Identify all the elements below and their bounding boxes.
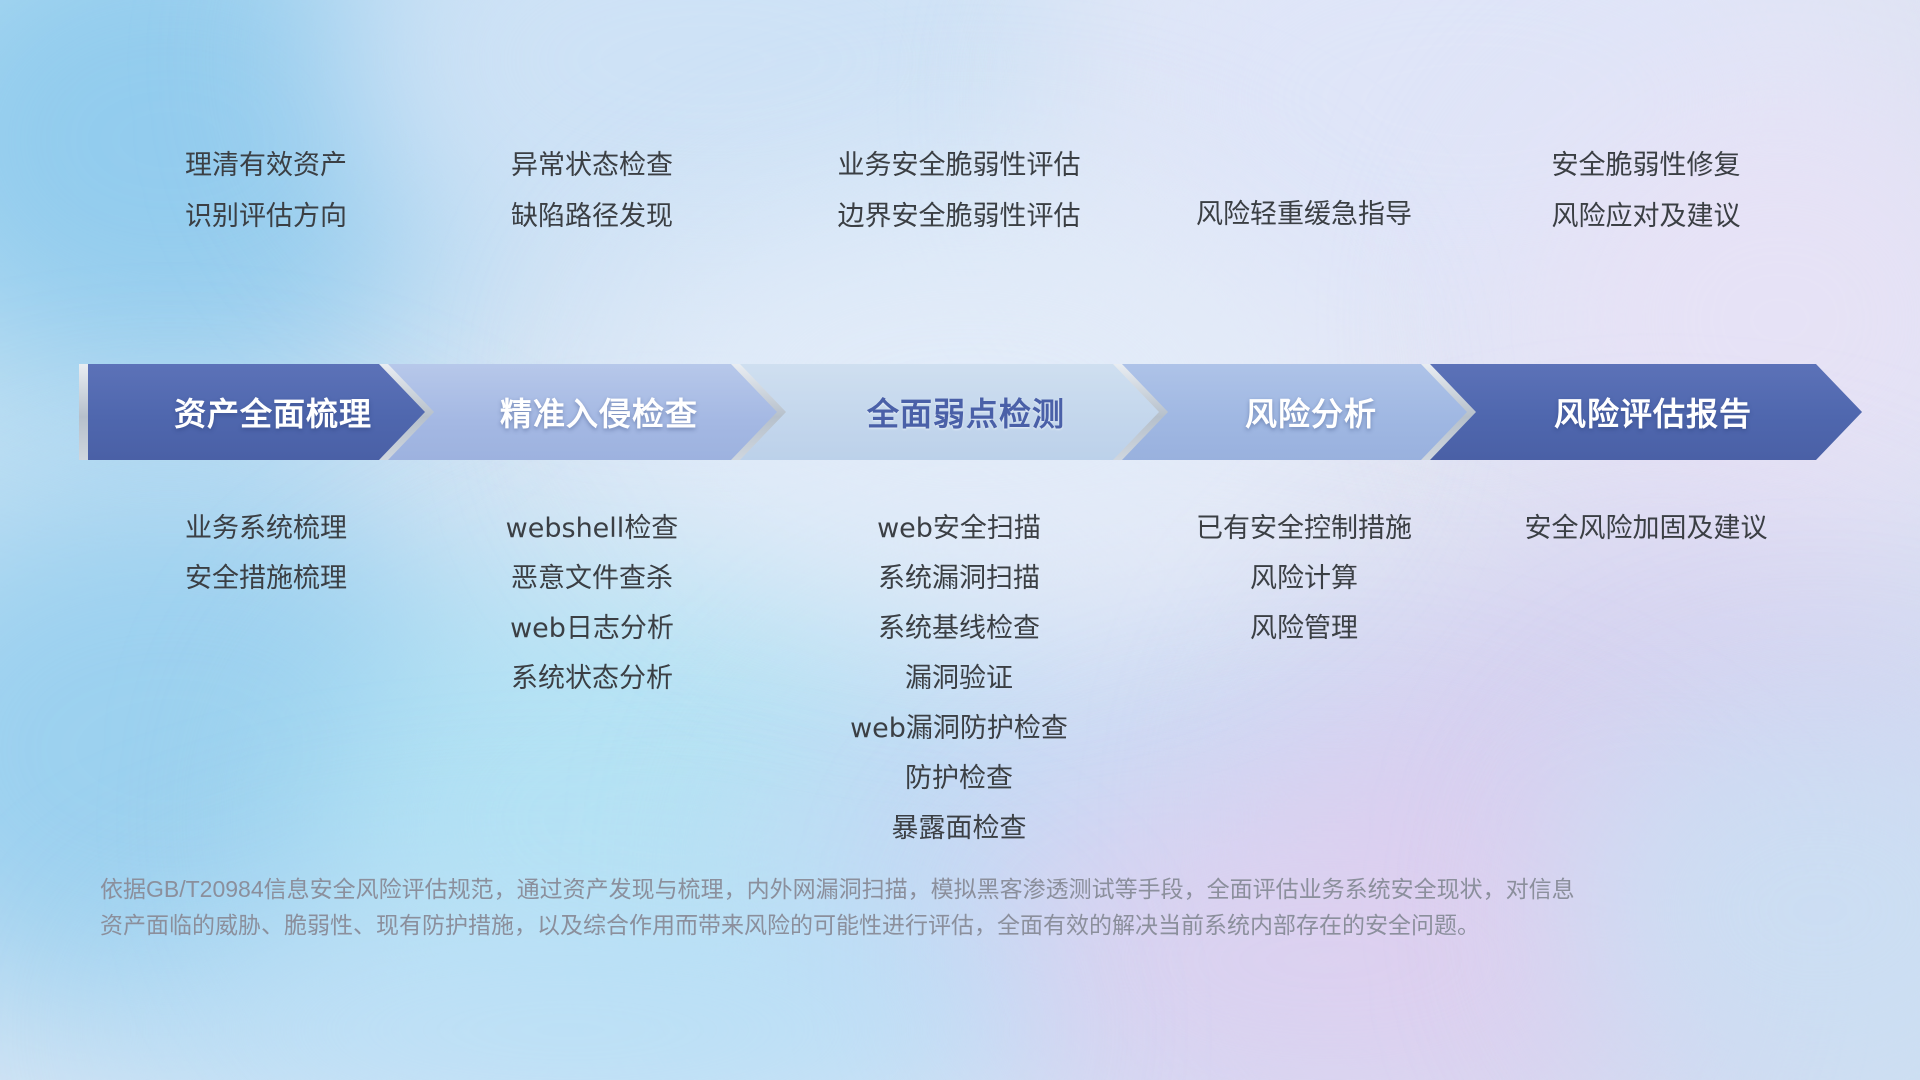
- top-caption-item: 风险应对及建议: [1346, 203, 1920, 230]
- top-caption-group-risk-report: 安全脆弱性修复风险应对及建议: [1346, 152, 1920, 254]
- footer-line-2: 资产面临的威胁、脆弱性、现有防护措施，以及综合作用而带来风险的可能性进行评估，全…: [100, 908, 1840, 944]
- bottom-list-item-cn: 暴露面检查: [892, 813, 1027, 843]
- stage-chevron-weakness-detection[interactable]: 全面弱点检测: [740, 364, 1178, 460]
- bottom-list-item-cn: 恶意文件查杀: [511, 563, 673, 593]
- bottom-list-item-cn: 安全风险加固及建议: [1525, 513, 1768, 543]
- bottom-list-item-cn: 风险管理: [1250, 613, 1358, 643]
- bottom-list-item-en: web: [510, 613, 566, 644]
- bottom-list-item-cn: 漏洞防护检查: [906, 713, 1068, 743]
- top-caption-item: 安全脆弱性修复: [1346, 152, 1920, 179]
- process-diagram: 理清有效资产识别评估方向异常状态检查缺陷路径发现业务安全脆弱性评估边界安全脆弱性…: [0, 0, 1920, 1080]
- stage-title-risk-report: 风险评估报告: [1540, 389, 1752, 435]
- bottom-list-risk-report: 安全风险加固及建议: [1346, 515, 1920, 565]
- stage-chevron-asset-inventory[interactable]: 资产全面梳理: [88, 364, 444, 460]
- bottom-list-item-cn: 防护检查: [905, 763, 1013, 793]
- bottom-list-item: 防护检查: [659, 765, 1259, 792]
- stage-title-asset-inventory: 资产全面梳理: [160, 389, 372, 435]
- bottom-list-item: 漏洞验证: [659, 665, 1259, 692]
- bottom-list-item: 暴露面检查: [659, 815, 1259, 842]
- bottom-list-item: 风险管理: [1004, 615, 1604, 642]
- footer-line-1: 依据GB/T20984信息安全风险评估规范，通过资产发现与梳理，内外网漏洞扫描，…: [100, 872, 1840, 908]
- bottom-list-item: 风险计算: [1004, 565, 1604, 592]
- stage-chevron-intrusion-check[interactable]: 精准入侵检查: [388, 364, 796, 460]
- stage-title-intrusion-check: 精准入侵检查: [486, 389, 698, 435]
- bottom-list-item-cn: 日志分析: [566, 613, 674, 643]
- bottom-list-item: web漏洞防护检查: [659, 715, 1259, 742]
- bottom-list-item-cn: 漏洞验证: [905, 663, 1013, 693]
- bottom-list-item-en: web: [850, 713, 906, 744]
- top-caption-item: 业务安全脆弱性评估: [659, 152, 1259, 179]
- stage-chevron-band: 资产全面梳理精准入侵检查全面弱点检测风险分析风险评估报告: [88, 364, 1856, 460]
- bottom-list-item: 安全风险加固及建议: [1346, 515, 1920, 542]
- stage-chevron-risk-report[interactable]: 风险评估报告: [1430, 364, 1862, 460]
- bottom-list-item-en: webshell: [506, 513, 625, 544]
- footer-description: 依据GB/T20984信息安全风险评估规范，通过资产发现与梳理，内外网漏洞扫描，…: [100, 872, 1840, 943]
- bottom-list-item-cn: 风险计算: [1250, 563, 1358, 593]
- stage-title-risk-analysis: 风险分析: [1231, 389, 1377, 435]
- stage-title-weakness-detection: 全面弱点检测: [853, 389, 1065, 435]
- bottom-list-item-cn: 系统状态分析: [511, 663, 673, 693]
- stage-chevron-risk-analysis[interactable]: 风险分析: [1122, 364, 1486, 460]
- bottom-list-item-en: web: [877, 513, 933, 544]
